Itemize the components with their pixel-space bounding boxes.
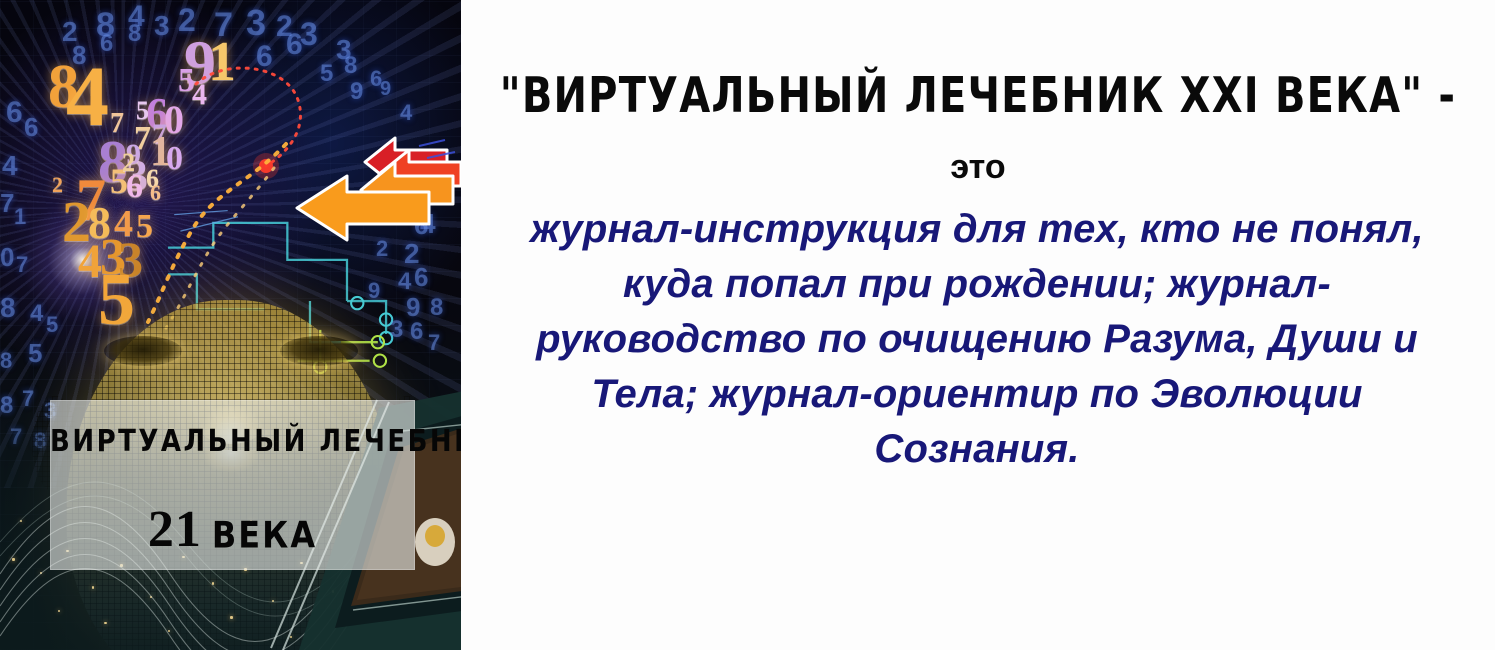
cover-title-plate: ВИРТУАЛЬНЫЙ ЛЕЧЕБНИК 21ВЕКА	[50, 400, 415, 570]
body-line-2: куда попал при рождении; журнал-	[481, 257, 1473, 312]
eye-left	[104, 336, 182, 366]
magazine-cover-image: 6 6 4 7 1 0 7 8 4 5 5 8 8 7 3 7 8 8 4 3 …	[0, 0, 461, 650]
cover-title-line2: 21ВЕКА	[50, 500, 415, 559]
body-line-3: руководство по очищению Разума, Души и	[481, 312, 1473, 367]
body-line-1: журнал-инструкция для тех, кто не понял,	[481, 202, 1473, 257]
eye-right	[280, 336, 358, 366]
body-copy: журнал-инструкция для тех, кто не понял,…	[481, 202, 1473, 477]
promo-text-panel: "ВИРТУАЛЬНЫЙ ЛЕЧЕБНИК XXI ВЕКА" - это жу…	[461, 0, 1495, 650]
cover-century-word: ВЕКА	[212, 513, 317, 556]
body-line-4: Тела; журнал-ориентир по Эволюции	[481, 367, 1473, 422]
body-line-5: Сознания.	[481, 422, 1473, 477]
cover-title-line1: ВИРТУАЛЬНЫЙ ЛЕЧЕБНИК	[50, 424, 415, 459]
promo-banner: 6 6 4 7 1 0 7 8 4 5 5 8 8 7 3 7 8 8 4 3 …	[0, 0, 1495, 650]
cover-century-number: 21	[148, 501, 202, 558]
arrow-left-icon	[269, 132, 461, 247]
page-title: "ВИРТУАЛЬНЫЙ ЛЕЧЕБНИК XXI ВЕКА" -	[461, 68, 1495, 124]
subtitle-eto: это	[461, 148, 1495, 187]
